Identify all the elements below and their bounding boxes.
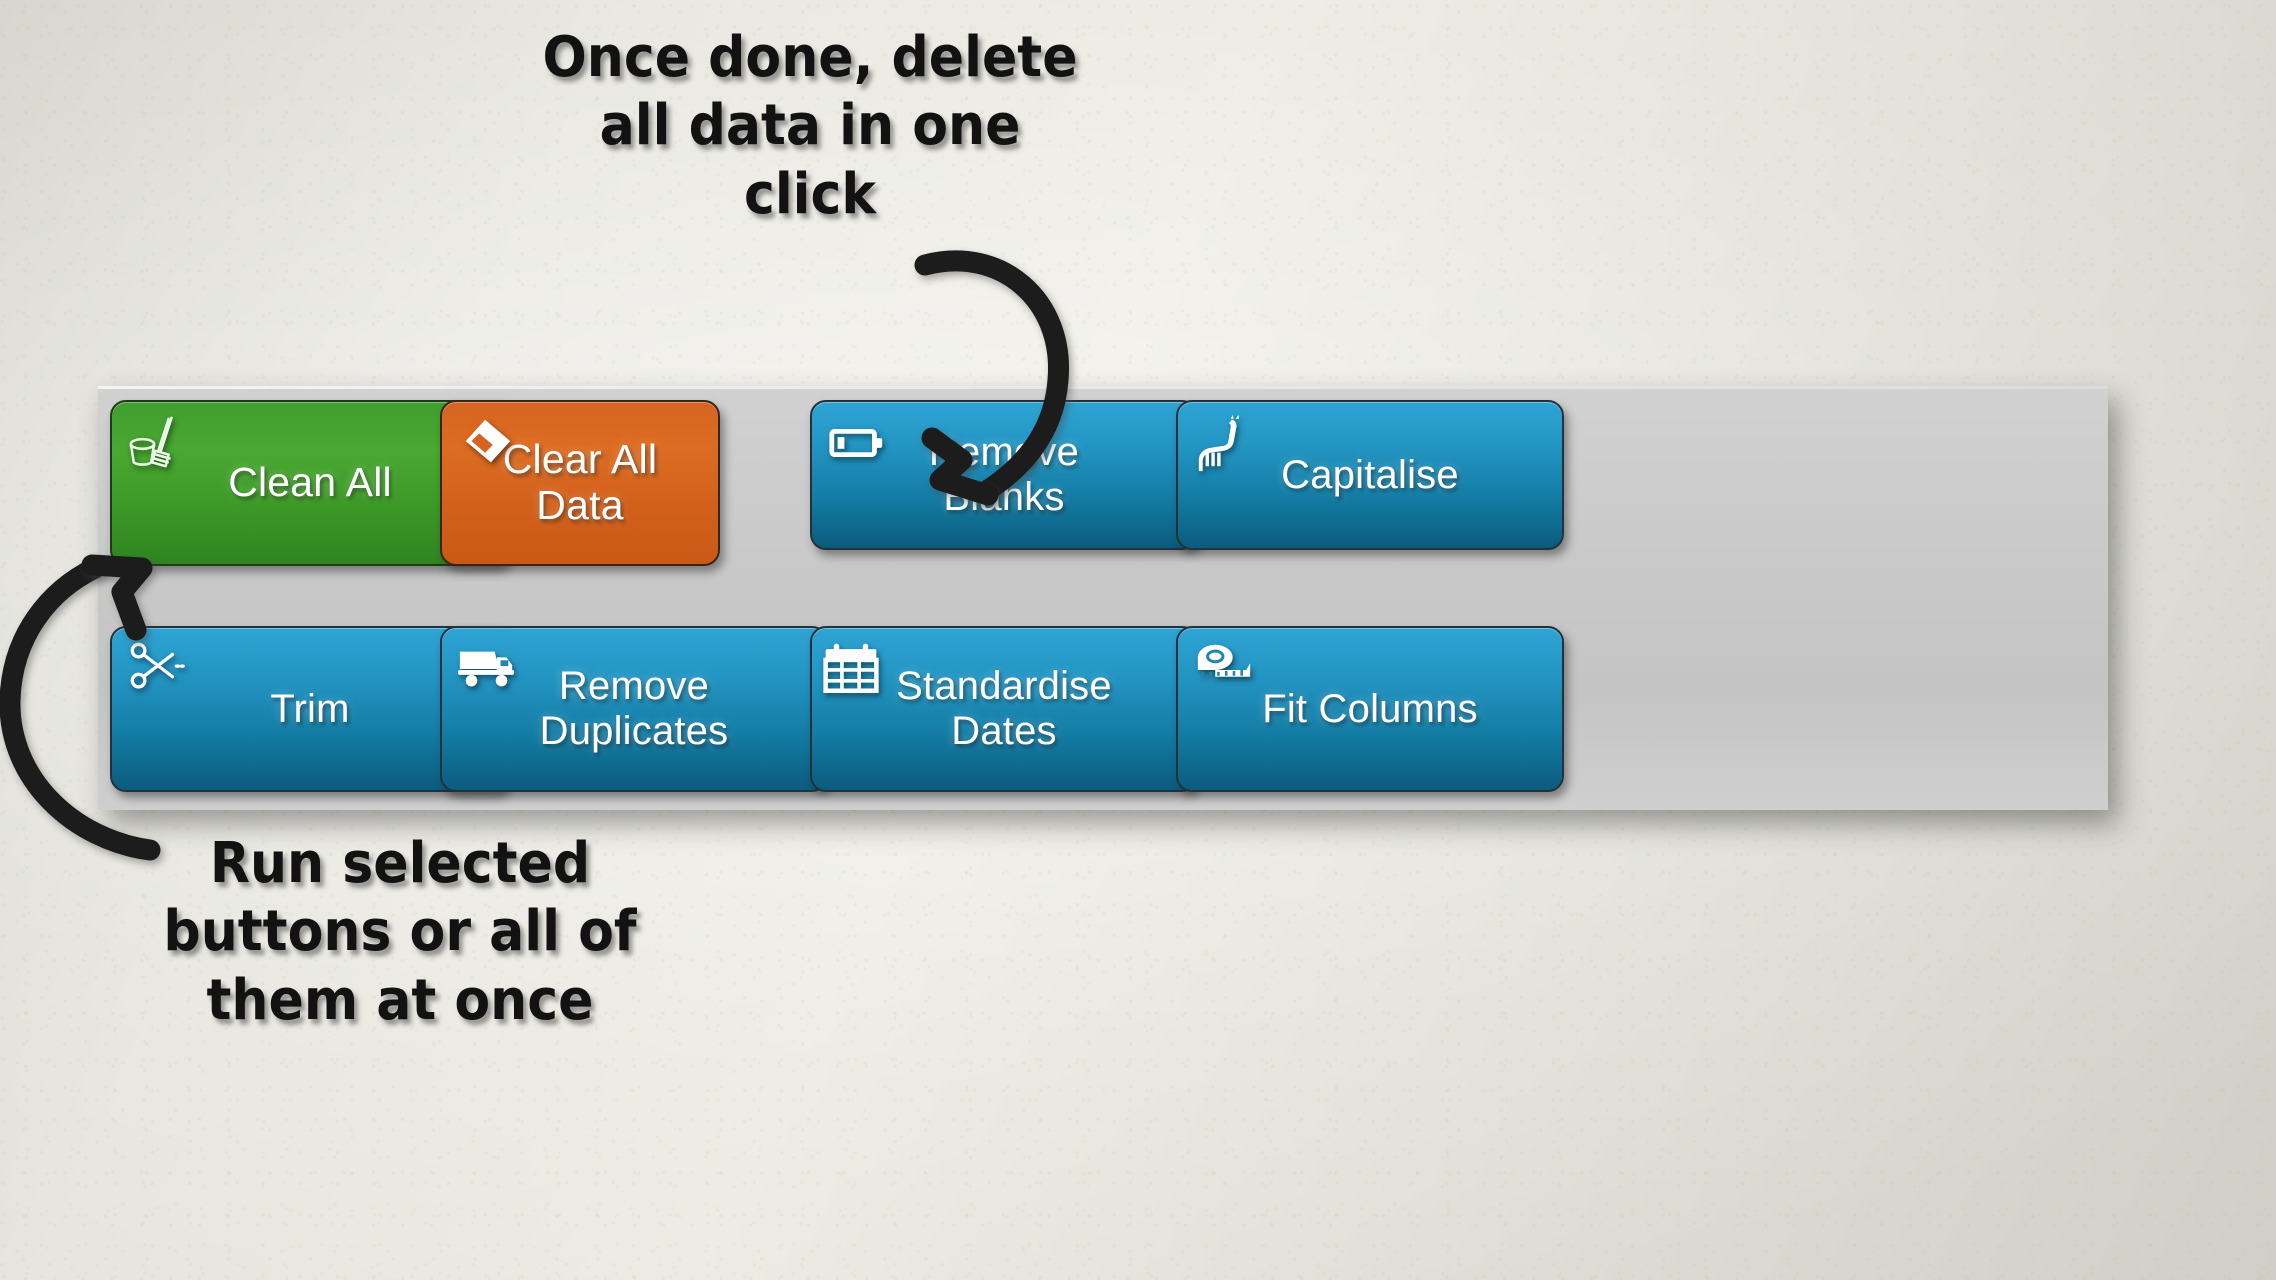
bucket-broom-icon	[126, 412, 188, 474]
fit-columns-button-label: Fit Columns	[1248, 687, 1492, 732]
scissors-icon	[126, 638, 188, 700]
clear-all-data-button-label: Clear All Data	[442, 437, 718, 529]
annotation-top-text: Once done, delete all data in one click	[447, 24, 1172, 229]
fit-columns-button[interactable]: Fit Columns	[1176, 626, 1564, 792]
screenshot-stage: Clean All Clear All Data	[0, 0, 2276, 1280]
remove-duplicates-button[interactable]: Remove Duplicates	[440, 626, 828, 792]
trim-button-label: Trim	[256, 687, 363, 732]
data-cleaning-button-panel: Clean All Clear All Data	[98, 386, 2108, 810]
standardise-dates-button-label: Standardise Dates	[882, 664, 1126, 754]
clear-all-data-button[interactable]: Clear All Data	[440, 400, 720, 566]
button-grid: Clean All Clear All Data	[98, 386, 2108, 810]
dump-truck-icon	[456, 638, 518, 700]
annotation-bottom-text: Run selected buttons or all of them at o…	[75, 830, 726, 1035]
capitalise-button[interactable]: Capitalise	[1176, 400, 1564, 550]
calendar-icon	[822, 640, 880, 698]
remove-blanks-button[interactable]: Remove Blanks	[810, 400, 1198, 550]
giraffe-icon	[1192, 412, 1254, 474]
clean-all-button-label: Clean All	[214, 460, 406, 506]
capitalise-button-label: Capitalise	[1267, 453, 1473, 498]
low-battery-icon	[826, 412, 888, 474]
remove-duplicates-button-label: Remove Duplicates	[526, 664, 743, 754]
remove-blanks-button-label: Remove Blanks	[915, 430, 1093, 520]
standardise-dates-button[interactable]: Standardise Dates	[810, 626, 1198, 792]
tape-measure-icon	[1192, 638, 1254, 700]
